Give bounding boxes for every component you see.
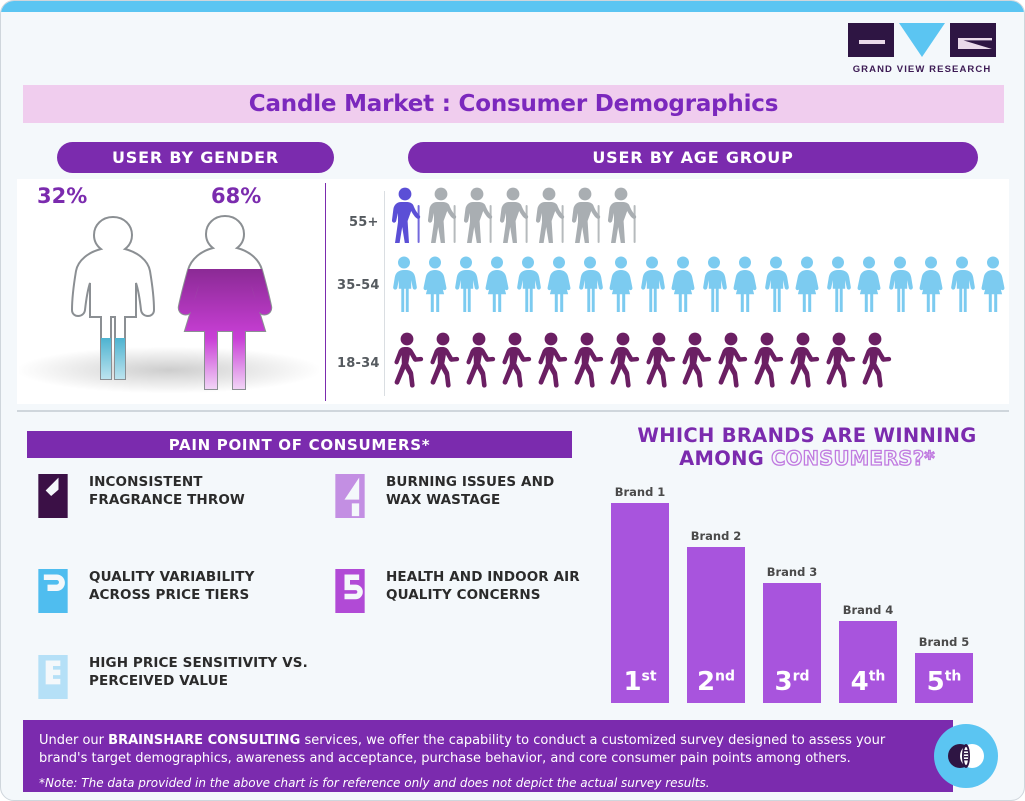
pain-point-label: HEALTH AND INDOOR AIR QUALITY CONCERNS <box>386 568 580 604</box>
pictogram-figure <box>499 187 533 250</box>
female-percentage: 68% <box>211 184 261 208</box>
elderly-with-cane-icon <box>571 187 605 245</box>
age-row-label-18-34: 18-34 <box>337 356 380 371</box>
brand-logo: GRAND VIEW RESEARCH <box>848 23 996 75</box>
pictogram-figure <box>463 187 497 250</box>
bar-column: Brand 22nd <box>687 529 745 703</box>
numeral-3-icon <box>31 649 75 705</box>
bar: 4th <box>839 621 897 703</box>
walking-person-icon <box>391 332 425 390</box>
logo-g-mark-icon <box>848 23 894 57</box>
pictogram-figure <box>701 256 727 317</box>
pictogram-figure <box>887 256 913 317</box>
pictogram-figure <box>608 256 634 317</box>
pictogram-figure <box>571 187 605 250</box>
pain-point-label: HIGH PRICE SENSITIVITY VS. PERCEIVED VAL… <box>89 654 308 690</box>
brands-title-line2-outline: CONSUMERS?* <box>771 447 935 470</box>
pictogram-figure <box>391 187 425 250</box>
walking-person-icon <box>643 332 677 390</box>
brands-title-line2-solid: AMONG <box>679 447 771 470</box>
walking-person-icon <box>427 332 461 390</box>
walking-person-icon <box>787 332 821 390</box>
pain-point-item: QUALITY VARIABILITY ACROSS PRICE TIERS <box>31 563 254 619</box>
bar-rank-label: 3rd <box>774 669 809 703</box>
bar: 3rd <box>763 583 821 703</box>
numeral-1-icon <box>31 468 75 524</box>
walking-person-icon <box>571 332 605 390</box>
brands-chart-title: WHICH BRANDS ARE WINNING AMONG CONSUMERS… <box>601 424 1013 471</box>
pictogram-figure <box>535 187 569 250</box>
infographic-poster: GRAND VIEW RESEARCH Candle Market : Cons… <box>0 0 1025 801</box>
pictogram-figure <box>453 256 479 317</box>
age-row-label-55plus: 55+ <box>349 215 379 230</box>
footer-badge-icon <box>934 724 998 788</box>
pictogram-figure <box>763 256 789 317</box>
logo-marks <box>848 23 996 59</box>
pain-points-band: PAIN POINT OF CONSUMERS* <box>27 431 572 458</box>
standing-person-icon <box>484 256 510 312</box>
logo-wordmark: GRAND VIEW RESEARCH <box>848 64 996 75</box>
pictogram-figure <box>670 256 696 317</box>
footer-text-bold: BRAINSHARE CONSULTING <box>108 733 300 748</box>
pictogram-figure <box>856 256 882 317</box>
walking-person-icon <box>607 332 641 390</box>
pictogram-figure <box>607 187 641 250</box>
standing-person-icon <box>577 256 603 312</box>
standing-person-icon <box>763 256 789 312</box>
bar-column: Brand 11st <box>611 485 669 703</box>
standing-person-icon <box>887 256 913 312</box>
pictogram-figure <box>607 332 641 395</box>
walking-person-icon <box>463 332 497 390</box>
pictogram-figure <box>546 256 572 317</box>
male-figure-icon <box>61 214 165 397</box>
title-band: Candle Market : Consumer Demographics <box>23 85 1004 123</box>
standing-person-icon <box>701 256 727 312</box>
bar: 5th <box>915 653 973 703</box>
bar-rank-label: 1st <box>623 669 656 703</box>
pictogram-figure <box>571 332 605 395</box>
pain-point-item: HIGH PRICE SENSITIVITY VS. PERCEIVED VAL… <box>31 649 308 705</box>
elderly-with-cane-icon <box>391 187 425 245</box>
standing-person-icon <box>639 256 665 312</box>
standing-person-icon <box>794 256 820 312</box>
pain-point-item: BURNING ISSUES AND WAX WASTAGE <box>328 468 554 524</box>
walking-person-icon <box>535 332 569 390</box>
pictogram-figure <box>391 256 417 317</box>
footer-text-pre: Under our <box>39 733 108 748</box>
standing-person-icon <box>856 256 882 312</box>
standing-person-icon <box>608 256 634 312</box>
bar-category-label: Brand 3 <box>767 565 818 579</box>
pain-point-label: QUALITY VARIABILITY ACROSS PRICE TIERS <box>89 568 254 604</box>
standing-person-icon <box>825 256 851 312</box>
bar-category-label: Brand 4 <box>843 603 894 617</box>
logo-r-mark-icon <box>950 23 996 57</box>
footer-line-1: Under our BRAINSHARE CONSULTING services… <box>39 732 937 768</box>
pain-point-item: HEALTH AND INDOOR AIR QUALITY CONCERNS <box>328 563 580 619</box>
bar: 1st <box>611 503 669 703</box>
male-percentage: 32% <box>37 184 87 208</box>
age-chart-axis <box>384 191 385 396</box>
brands-bar-chart: Brand 11stBrand 22ndBrand 33rdBrand 44th… <box>611 481 1011 703</box>
pictogram-figure <box>715 332 749 395</box>
section-pill-user-by-gender: USER BY GENDER <box>57 142 334 173</box>
bar-column: Brand 55th <box>915 635 973 703</box>
pain-point-label: BURNING ISSUES AND WAX WASTAGE <box>386 473 554 509</box>
pictogram-figure <box>463 332 497 395</box>
standing-person-icon <box>453 256 479 312</box>
bar-category-label: Brand 2 <box>691 529 742 543</box>
bar-category-label: Brand 5 <box>919 635 970 649</box>
age-pictogram-row-18-34 <box>391 331 894 395</box>
bar-rank-label: 5th <box>927 669 962 703</box>
pictogram-figure <box>499 332 533 395</box>
female-figure-icon <box>169 213 281 398</box>
numeral-4-icon <box>328 468 372 524</box>
pictogram-figure <box>427 187 461 250</box>
pictogram-figure <box>515 256 541 317</box>
pictogram-figure <box>732 256 758 317</box>
walking-person-icon <box>751 332 785 390</box>
pictogram-figure <box>643 332 677 395</box>
numeral-2-icon <box>31 563 75 619</box>
pictogram-figure <box>787 332 821 395</box>
footer-note: Under our BRAINSHARE CONSULTING services… <box>23 720 953 792</box>
bar-rank-label: 2nd <box>697 669 735 703</box>
pictogram-figure <box>918 256 944 317</box>
bar-column: Brand 44th <box>839 603 897 703</box>
pictogram-figure <box>823 332 857 395</box>
section-pill-user-by-age-group: USER BY AGE GROUP <box>408 142 978 173</box>
bar: 2nd <box>687 547 745 703</box>
walking-person-icon <box>823 332 857 390</box>
pictogram-figure <box>751 332 785 395</box>
pictogram-figure <box>639 256 665 317</box>
elderly-with-cane-icon <box>463 187 497 245</box>
standing-person-icon <box>422 256 448 312</box>
age-row-label-35-54: 35-54 <box>337 278 380 293</box>
pictogram-figure <box>484 256 510 317</box>
logo-v-triangle-icon <box>899 23 945 57</box>
standing-person-icon <box>980 256 1006 312</box>
pictogram-figure <box>535 332 569 395</box>
standing-person-icon <box>918 256 944 312</box>
standing-person-icon <box>670 256 696 312</box>
walking-person-icon <box>859 332 893 390</box>
elderly-with-cane-icon <box>535 187 569 245</box>
standing-person-icon <box>391 256 417 312</box>
brands-title-line1: WHICH BRANDS ARE WINNING <box>637 424 976 447</box>
pain-point-item: INCONSISTENT FRAGRANCE THROW <box>31 468 245 524</box>
pictogram-figure <box>949 256 975 317</box>
pictogram-figure <box>427 332 461 395</box>
pictogram-figure <box>794 256 820 317</box>
standing-person-icon <box>515 256 541 312</box>
standing-person-icon <box>949 256 975 312</box>
walking-person-icon <box>679 332 713 390</box>
walking-person-icon <box>499 332 533 390</box>
age-pictogram-row-55plus <box>391 192 642 250</box>
pictogram-figure <box>980 256 1006 317</box>
panel-divider <box>325 183 326 401</box>
age-pictogram-row-35-54 <box>391 255 1011 317</box>
elderly-with-cane-icon <box>607 187 641 245</box>
bar-rank-label: 4th <box>851 669 886 703</box>
pictogram-figure <box>825 256 851 317</box>
walking-person-icon <box>715 332 749 390</box>
bar-column: Brand 33rd <box>763 565 821 703</box>
pictogram-figure <box>577 256 603 317</box>
pictogram-figure <box>859 332 893 395</box>
numeral-5-icon <box>328 563 372 619</box>
pain-point-label: INCONSISTENT FRAGRANCE THROW <box>89 473 245 509</box>
standing-person-icon <box>546 256 572 312</box>
section-divider <box>17 410 1009 412</box>
elderly-with-cane-icon <box>427 187 461 245</box>
standing-person-icon <box>732 256 758 312</box>
pictogram-figure <box>679 332 713 395</box>
footer-line-2: *Note: The data provided in the above ch… <box>39 776 937 790</box>
page-title: Candle Market : Consumer Demographics <box>249 91 778 117</box>
elderly-with-cane-icon <box>499 187 533 245</box>
top-accent-bar <box>1 1 1025 12</box>
pictogram-figure <box>422 256 448 317</box>
pictogram-figure <box>391 332 425 395</box>
bar-category-label: Brand 1 <box>615 485 666 499</box>
